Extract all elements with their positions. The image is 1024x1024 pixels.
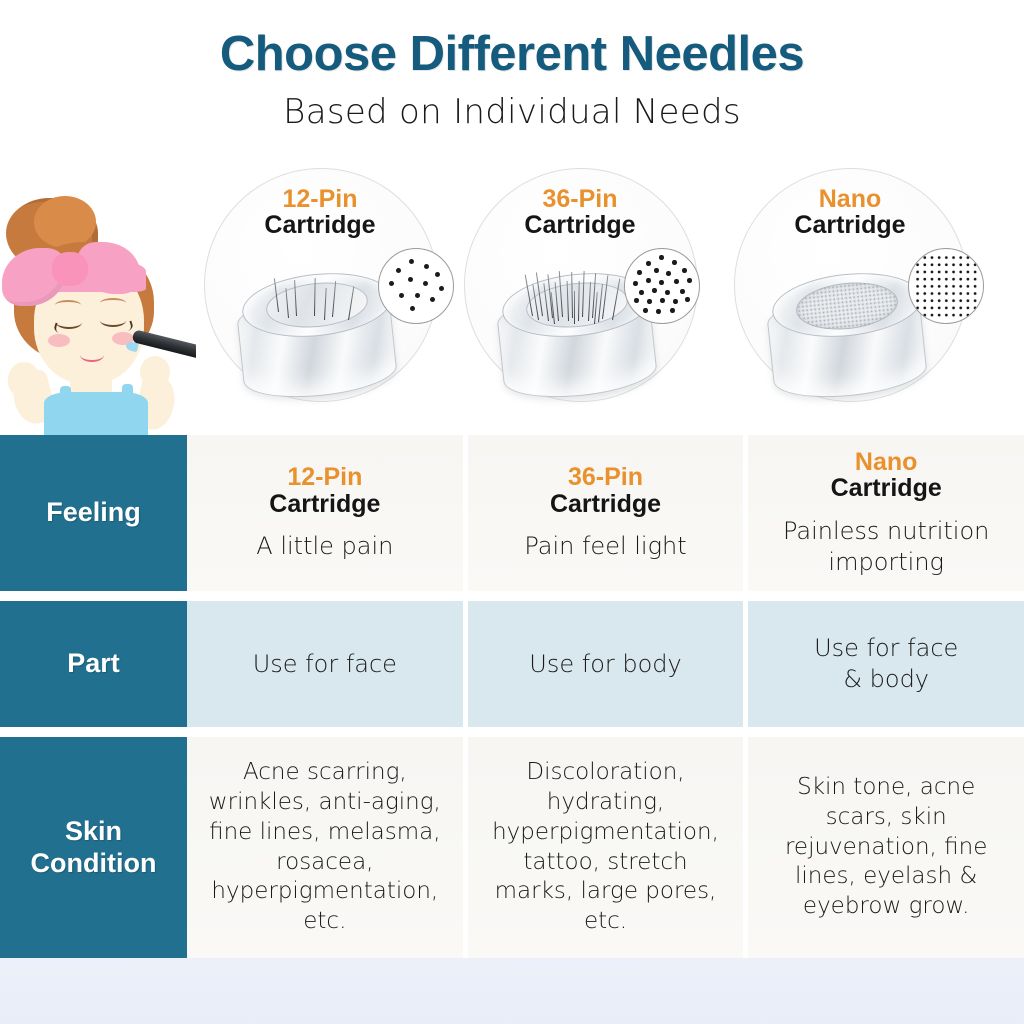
hero-label-12pin: 12-Pin Cartridge [190,186,450,239]
column-header-nano: Nano Cartridge [831,449,942,502]
row-label-skin-condition: Skin Condition [0,737,187,958]
row-cells-feeling: 12-Pin Cartridge A little pain 36-Pin Ca… [187,435,1024,591]
page-subtitle: Based on Individual Needs [0,92,1024,132]
hero-cartridge-label-12pin: Cartridge [190,212,450,238]
comparison-table: Feeling 12-Pin Cartridge A little pain 3… [0,435,1024,958]
table-row-part: Part Use for face Use for body Use for f… [0,601,1024,727]
eyebrow-left-icon [55,300,81,310]
hand-left-icon [8,362,40,396]
cell-feeling-36pin: 36-Pin Cartridge Pain feel light [463,435,744,591]
nano-dot-grid-icon [914,254,978,318]
needle-pattern-inset-12pin [378,248,454,324]
cell-skin-nano: Skin tone, acne scars, skin rejuvenation… [743,737,1024,958]
cell-value: A little pain [256,531,393,562]
mouth-icon [80,348,104,362]
hand-right-icon [140,356,170,388]
cell-value: Use for face [253,649,397,680]
hero-cartridge-label-nano: Cartridge [720,212,980,238]
tank-top-icon [44,392,148,436]
infographic-page: Choose Different Needles Based on Indivi… [0,0,1024,1024]
column-pin-label-12pin: 12-Pin [269,464,380,491]
hero-pin-label-36pin: 36-Pin [450,186,710,212]
cell-value: Use for body [529,649,681,680]
hair-bun-highlight-icon [34,196,96,248]
bow-knot-icon [52,252,88,286]
cell-value: Use for face & body [806,633,966,694]
table-row-feeling: Feeling 12-Pin Cartridge A little pain 3… [0,435,1024,591]
row-label-part: Part [0,601,187,727]
column-header-36pin: 36-Pin Cartridge [550,464,661,517]
cell-part-36pin: Use for body [463,601,744,727]
cell-value: Pain feel light [524,531,686,562]
hero-cartridge-label-36pin: Cartridge [450,212,710,238]
cartridge-image-nano [762,268,932,400]
hero-pin-label-12pin: 12-Pin [190,186,450,212]
hero-label-36pin: 36-Pin Cartridge [450,186,710,239]
hero-pin-label-nano: Nano [720,186,980,212]
column-cartridge-label-36pin: Cartridge [550,491,661,518]
needle-pattern-inset-36pin [624,248,700,324]
cell-feeling-12pin: 12-Pin Cartridge A little pain [187,435,463,591]
table-row-skin-condition: Skin Condition Acne scarring, wrinkles, … [0,737,1024,958]
page-title: Choose Different Needles [0,26,1024,82]
column-header-12pin: 12-Pin Cartridge [269,464,380,517]
column-pin-label-36pin: 36-Pin [550,464,661,491]
row-divider [0,591,1024,601]
hero-label-nano: Nano Cartridge [720,186,980,239]
microneedling-pen-icon [132,329,196,360]
cell-skin-36pin: Discoloration, hydrating, hyperpigmentat… [463,737,744,958]
cell-part-nano: Use for face & body [743,601,1024,727]
column-cartridge-label-12pin: Cartridge [269,491,380,518]
cell-skin-12pin: Acne scarring, wrinkles, anti-aging, fin… [187,737,463,958]
cell-value: Skin tone, acne scars, skin rejuvenation… [769,773,1004,922]
woman-illustration [0,196,196,436]
row-divider [0,727,1024,737]
needle-icon [574,291,575,324]
blush-left-icon [48,334,70,347]
eyebrow-right-icon [100,298,126,308]
cell-value: Discoloration, hydrating, hyperpigmentat… [483,758,728,937]
row-cells-part: Use for face Use for body Use for face &… [187,601,1024,727]
cell-value: Painless nutrition importing [781,516,991,577]
cartridge-image-12pin [232,268,402,400]
column-cartridge-label-nano: Cartridge [831,475,942,502]
column-pin-label-nano: Nano [831,449,942,476]
row-cells-skin-condition: Acne scarring, wrinkles, anti-aging, fin… [187,737,1024,958]
cell-part-12pin: Use for face [187,601,463,727]
cell-feeling-nano: Nano Cartridge Painless nutrition import… [743,435,1024,591]
cell-value: Acne scarring, wrinkles, anti-aging, fin… [202,758,447,937]
needle-pattern-inset-nano [908,248,984,324]
row-label-feeling: Feeling [0,435,187,591]
